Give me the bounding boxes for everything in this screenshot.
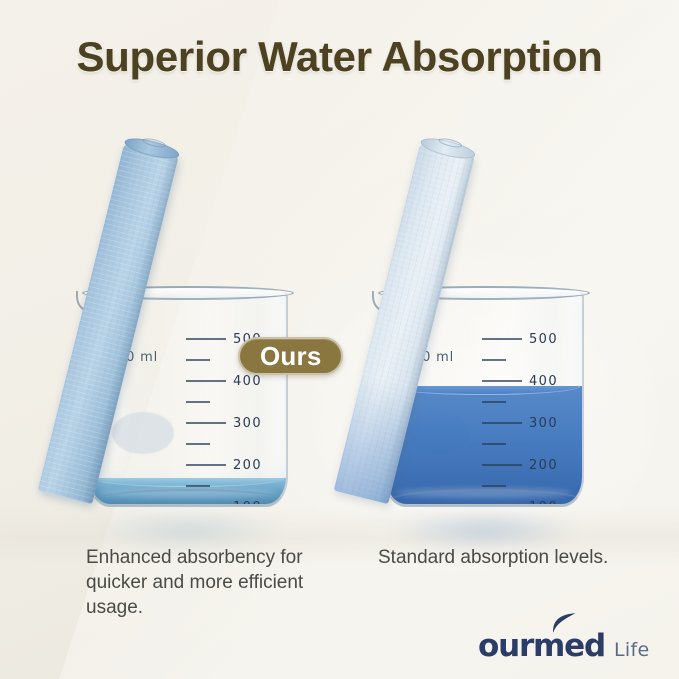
graduation-label: 200: [529, 458, 558, 473]
graduation-line: [482, 359, 506, 361]
logo-wordmark: ourmed: [478, 628, 605, 664]
graduation-tick: 400: [482, 376, 558, 386]
graduation-tick: 300: [482, 418, 558, 428]
graduation-line: [482, 506, 522, 507]
beaker-reflection: [94, 510, 282, 550]
graduation-line: [186, 485, 210, 487]
comparison-panel-others: 500 ml 500 400: [338, 130, 638, 550]
leaf-icon: [547, 612, 577, 634]
graduation-line: [186, 401, 210, 403]
graduation-line: [482, 485, 506, 487]
graduation-line: [482, 380, 522, 382]
graduation-line: [186, 422, 226, 424]
comparison-panel-ours: 500 ml 500 400: [42, 130, 342, 550]
graduation-tick: [186, 355, 210, 365]
graduation-label: 400: [233, 374, 262, 389]
graduation-tick: 300: [186, 418, 262, 428]
graduation-label: 300: [233, 416, 262, 431]
graduation-tick: [482, 397, 506, 407]
graduation-line: [186, 506, 226, 507]
towel-core: [438, 137, 463, 150]
caption-others: Standard absorption levels.: [378, 545, 628, 570]
graduation-label: 200: [233, 458, 262, 473]
graduation-line: [482, 422, 522, 424]
graduation-tick: 200: [186, 460, 262, 470]
graduation-tick: 200: [482, 460, 558, 470]
graduation-tick: 400: [186, 376, 262, 386]
page-title: Superior Water Absorption: [0, 33, 679, 81]
beaker-oval-marking: [112, 412, 174, 454]
towel-core: [142, 137, 167, 150]
beaker-reflection: [390, 510, 578, 550]
beaker-graduation-scale: 500 400 300: [482, 334, 578, 502]
graduation-line: [482, 338, 522, 340]
graduation-line: [186, 338, 226, 340]
graduation-tick: 500: [482, 334, 558, 344]
graduation-label: 400: [529, 374, 558, 389]
caption-ours: Enhanced absorbency for quicker and more…: [86, 545, 336, 620]
graduation-line: [482, 401, 506, 403]
graduation-tick: [186, 439, 210, 449]
graduation-line: [186, 380, 226, 382]
graduation-line: [482, 443, 506, 445]
beaker-base: [390, 489, 582, 507]
graduation-line: [482, 464, 522, 466]
beaker-base: [94, 489, 286, 507]
logo-brand-text: ourmed: [478, 628, 605, 664]
graduation-label: 300: [529, 416, 558, 431]
graduation-line: [186, 464, 226, 466]
graduation-tick: [482, 355, 506, 365]
graduation-line: [186, 359, 210, 361]
graduation-tick: [482, 439, 506, 449]
badge-ours: Ours: [238, 337, 343, 375]
brand-logo: ourmed Life: [478, 628, 649, 664]
logo-suffix-text: Life: [614, 639, 649, 661]
product-infographic: Superior Water Absorption 500 ml 500: [0, 0, 679, 679]
graduation-tick: [186, 397, 210, 407]
graduation-label: 500: [529, 332, 558, 347]
graduation-line: [186, 443, 210, 445]
